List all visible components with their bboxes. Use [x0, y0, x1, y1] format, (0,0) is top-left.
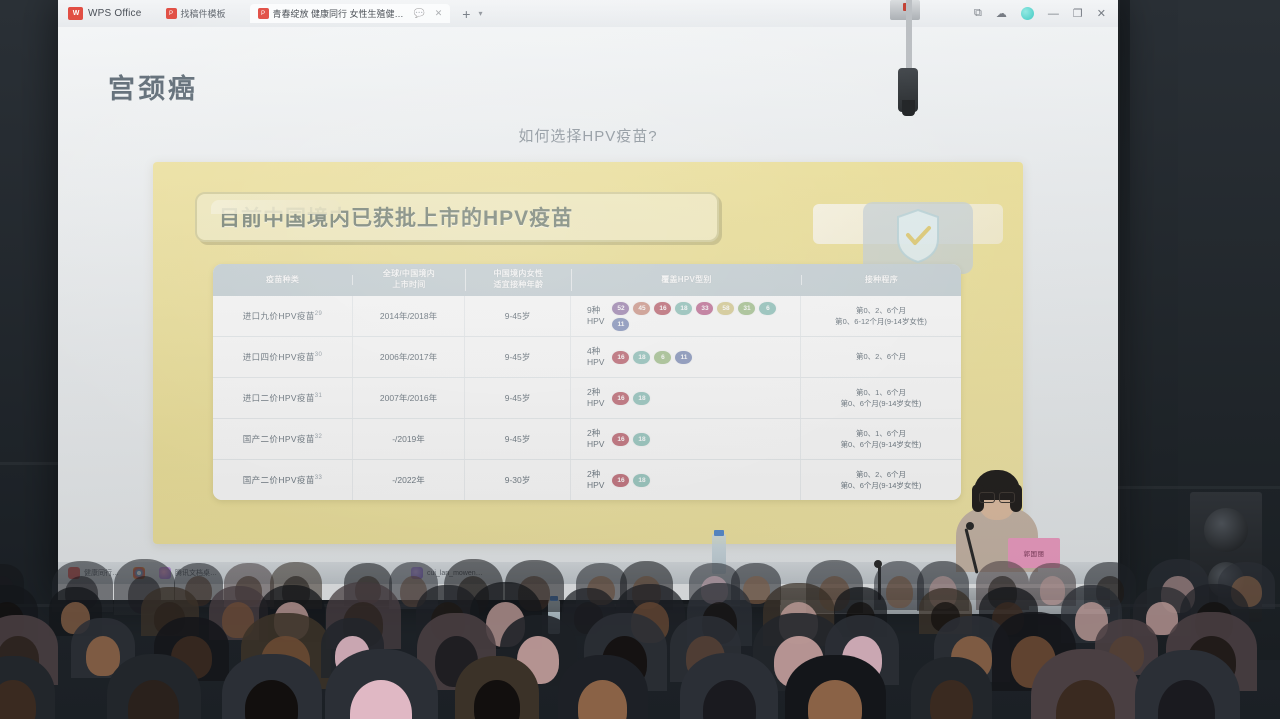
tab-close-icon[interactable]: ✕: [435, 8, 443, 19]
table-header-row: 疫苗种类 全球/中国境内上市时间 中国境内女性适宜接种年龄 覆盖HPV型别 接种…: [213, 264, 961, 296]
wall-line-right: [1118, 486, 1280, 489]
cell-launch-time: 2014年/2018年: [353, 296, 465, 336]
hpv-type-badge: 58: [717, 302, 734, 315]
cell-vaccine-type: 进口九价HPV疫苗29: [213, 296, 353, 336]
minimize-button[interactable]: —: [1048, 8, 1059, 20]
hpv-type-badge: 18: [633, 351, 650, 364]
cell-vaccine-type: 国产二价HPV疫苗32: [213, 419, 353, 459]
doc-icon: P: [166, 8, 177, 19]
column-header-vaccine-type: 疫苗种类: [213, 275, 353, 286]
cell-age-range: 9-45岁: [465, 296, 571, 336]
cloud-icon[interactable]: ☁: [996, 7, 1007, 20]
maximize-button[interactable]: ❐: [1073, 7, 1083, 20]
column-header-launch-time: 全球/中国境内上市时间: [353, 269, 465, 291]
wall-line-left: [0, 462, 60, 465]
table-row: 进口二价HPV疫苗312007年/2016年9-45岁2种HPV1618第0、1…: [213, 378, 961, 419]
column-header-hpv-types: 覆盖HPV型别: [572, 275, 802, 286]
cell-launch-time: -/2019年: [353, 419, 465, 459]
table-row: 进口四价HPV疫苗302006年/2017年9-45岁4种HPV1618611第…: [213, 337, 961, 378]
cell-schedule: 第0、2、6个月: [801, 337, 961, 377]
hpv-type-badge: 16: [612, 474, 629, 487]
wps-title-bar: W WPS Office P 找稿件模板 P 青春绽放 健康同行 女性生殖健… …: [58, 0, 1118, 27]
slide-subtitle: 如何选择HPV疫苗?: [58, 125, 1118, 146]
hpv-type-badge: 18: [633, 474, 650, 487]
cell-age-range: 9-45岁: [465, 378, 571, 418]
banner: 目前中国境内已获批上市的HPV疫苗: [195, 192, 719, 242]
cell-hpv-types: 2种HPV1618: [571, 419, 801, 459]
hpv-type-badges: 1618: [612, 474, 780, 487]
type-count-label: 4种HPV: [587, 346, 604, 367]
cell-launch-time: 2007年/2016年: [353, 378, 465, 418]
window-controls: ⧉ ☁ — ❐ ✕: [974, 7, 1106, 20]
schedule-text: 第0、1、6个月第0、6个月(9-14岁女性): [841, 387, 922, 410]
cell-vaccine-type: 进口四价HPV疫苗30: [213, 337, 353, 377]
hpv-type-badges: 1618611: [612, 351, 780, 364]
wps-app-name: WPS Office: [88, 8, 142, 19]
audience-member-head: [1040, 576, 1065, 605]
schedule-text: 第0、2、6个月第0、6-12个月(9-14岁女性): [835, 305, 927, 328]
cell-schedule: 第0、1、6个月第0、6个月(9-14岁女性): [801, 378, 961, 418]
glasses-icon: [979, 492, 1015, 501]
table-body: 进口九价HPV疫苗292014年/2018年9-45岁9种HPV52451618…: [213, 296, 961, 500]
cell-age-range: 9-45岁: [465, 337, 571, 377]
hpv-type-badge: 6: [759, 302, 776, 315]
hpv-type-badge: 33: [696, 302, 713, 315]
cell-launch-time: -/2022年: [353, 460, 465, 500]
tab-presentation-active[interactable]: P 青春绽放 健康同行 女性生殖健… 💬 ✕: [250, 4, 451, 23]
type-count-label: 9种HPV: [587, 305, 604, 326]
wps-logo: W WPS Office: [68, 7, 142, 20]
schedule-text: 第0、2、6个月第0、6个月(9-14岁女性): [841, 469, 922, 492]
cell-vaccine-type: 进口二价HPV疫苗31: [213, 378, 353, 418]
type-count-label: 2种HPV: [587, 428, 604, 449]
shield-check-icon: [895, 208, 941, 264]
hpv-type-badge: 31: [738, 302, 755, 315]
ppt-icon: P: [258, 8, 269, 19]
type-count-label: 2种HPV: [587, 387, 604, 408]
cell-age-range: 9-45岁: [465, 419, 571, 459]
hpv-type-badge: 18: [633, 433, 650, 446]
hpv-type-badge: 11: [612, 318, 629, 331]
table-row: 国产二价HPV疫苗32-/2019年9-45岁2种HPV1618第0、1、6个月…: [213, 419, 961, 460]
tab-label: 找稿件模板: [181, 7, 226, 20]
bottle-cap: [714, 530, 724, 536]
new-tab-button[interactable]: +: [462, 7, 470, 21]
column-header-age: 中国境内女性适宜接种年龄: [466, 269, 572, 291]
hpv-type-badge: 45: [633, 302, 650, 315]
cell-launch-time: 2006年/2017年: [353, 337, 465, 377]
cell-hpv-types: 4种HPV1618611: [571, 337, 801, 377]
column-header-schedule: 接种程序: [802, 275, 961, 286]
hpv-type-badge: 52: [612, 302, 629, 315]
hpv-type-badge: 16: [654, 302, 671, 315]
banner-fold: [211, 200, 341, 214]
hpv-type-badge: 16: [612, 392, 629, 405]
hpv-type-badge: 16: [612, 433, 629, 446]
audience-member-head: [886, 576, 913, 608]
cell-hpv-types: 2种HPV1618: [571, 378, 801, 418]
screenshot-root: W WPS Office P 找稿件模板 P 青春绽放 健康同行 女性生殖健… …: [0, 0, 1280, 719]
content-card: 目前中国境内已获批上市的HPV疫苗 疫苗种类 全球/中国境内上市时间 中国境内女…: [153, 162, 1023, 544]
cell-schedule: 第0、1、6个月第0、6个月(9-14岁女性): [801, 419, 961, 459]
avatar[interactable]: [1021, 7, 1034, 20]
cell-vaccine-type: 国产二价HPV疫苗33: [213, 460, 353, 500]
page-title: 宫颈癌: [108, 67, 198, 106]
projector-lens: [902, 100, 915, 116]
tab-template-library[interactable]: P 找稿件模板: [158, 4, 234, 23]
cell-schedule: 第0、2、6个月第0、6-12个月(9-14岁女性): [801, 296, 961, 336]
cell-hpv-types: 9种HPV52451618335831611: [571, 296, 801, 336]
audience: [0, 540, 1280, 719]
microphone-head: [966, 522, 974, 530]
table-row: 国产二价HPV疫苗33-/2022年9-30岁2种HPV1618第0、2、6个月…: [213, 460, 961, 500]
schedule-text: 第0、1、6个月第0、6个月(9-14岁女性): [841, 428, 922, 451]
cell-schedule: 第0、2、6个月第0、6个月(9-14岁女性): [801, 460, 961, 500]
projector-arm: [906, 0, 912, 72]
hpv-type-badges: 52451618335831611: [612, 302, 780, 331]
layout-icon[interactable]: ⧉: [974, 7, 982, 20]
hpv-type-badge: 18: [675, 302, 692, 315]
hpv-type-badges: 1618: [612, 392, 780, 405]
hpv-type-badge: 16: [612, 351, 629, 364]
hpv-type-badges: 1618: [612, 433, 780, 446]
tab-label: 青春绽放 健康同行 女性生殖健…: [273, 7, 404, 20]
cell-age-range: 9-30岁: [465, 460, 571, 500]
hpv-type-badge: 18: [633, 392, 650, 405]
chevron-down-icon[interactable]: ▾: [478, 9, 482, 18]
table-row: 进口九价HPV疫苗292014年/2018年9-45岁9种HPV52451618…: [213, 296, 961, 337]
schedule-text: 第0、2、6个月: [856, 351, 906, 362]
wps-logo-icon: W: [68, 7, 83, 20]
type-count-label: 2种HPV: [587, 469, 604, 490]
cell-hpv-types: 2种HPV1618: [571, 460, 801, 500]
card-inner: 目前中国境内已获批上市的HPV疫苗 疫苗种类 全球/中国境内上市时间 中国境内女…: [173, 178, 1003, 528]
hpv-type-badge: 11: [675, 351, 692, 364]
close-button[interactable]: ✕: [1097, 7, 1106, 20]
vaccine-table: 疫苗种类 全球/中国境内上市时间 中国境内女性适宜接种年龄 覆盖HPV型别 接种…: [213, 264, 961, 500]
tab-comment-icon[interactable]: 💬: [414, 8, 425, 19]
hpv-type-badge: 6: [654, 351, 671, 364]
